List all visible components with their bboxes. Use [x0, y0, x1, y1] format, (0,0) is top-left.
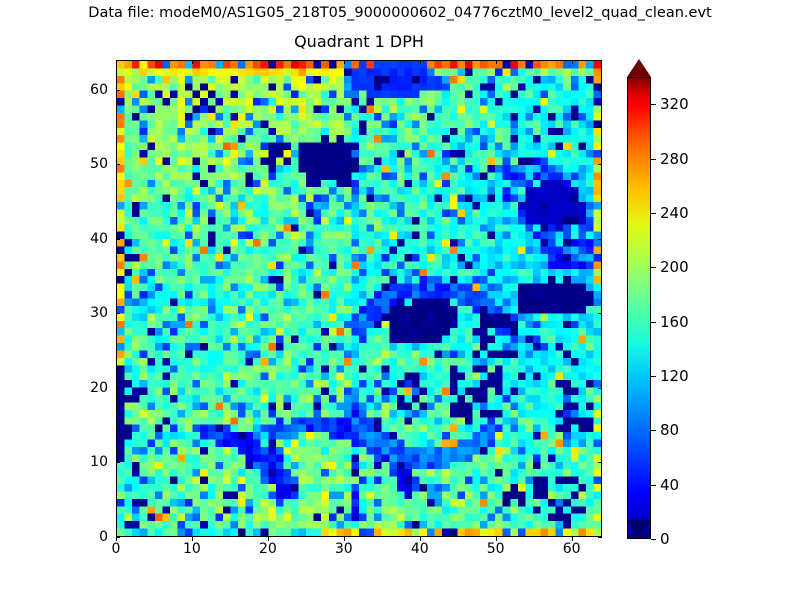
- colorbar-tick-label: 80: [660, 421, 679, 439]
- colorbar-tick-mark: [651, 104, 656, 105]
- colorbar-tick-label: 240: [660, 204, 689, 222]
- x-tick-label: 60: [563, 541, 581, 557]
- colorbar-tick-mark: [651, 322, 656, 323]
- x-tick-mark-top: [268, 60, 269, 64]
- y-tick-mark-right: [598, 164, 602, 165]
- x-tick-mark-top: [496, 60, 497, 64]
- y-tick-label: 40: [68, 231, 108, 247]
- colorbar[interactable]: 32028024020016012080400: [627, 60, 651, 537]
- y-tick-mark: [116, 537, 120, 538]
- data-file-title: Data file: modeM0/AS1G05_218T05_90000006…: [0, 5, 800, 21]
- colorbar-tick-mark: [651, 213, 656, 214]
- x-tick-mark-top: [192, 60, 193, 64]
- colorbar-tick-label: 200: [660, 258, 689, 276]
- y-tick-mark-right: [598, 239, 602, 240]
- colorbar-over-arrow-icon: [627, 59, 651, 77]
- y-tick-label: 30: [68, 305, 108, 321]
- figure-canvas: Data file: modeM0/AS1G05_218T05_90000006…: [0, 0, 800, 600]
- colorbar-tick-label: 160: [660, 313, 689, 331]
- x-tick-label: 30: [335, 541, 353, 557]
- x-tick-label: 10: [183, 541, 201, 557]
- colorbar-tick-mark: [651, 376, 656, 377]
- y-tick-label: 60: [68, 82, 108, 98]
- colorbar-tick-mark: [651, 267, 656, 268]
- colorbar-under-arrow-icon: [627, 520, 651, 538]
- colorbar-gradient: [627, 77, 651, 539]
- x-tick-label: 0: [112, 541, 121, 557]
- y-tick-mark-right: [598, 537, 602, 538]
- x-tick-mark-top: [116, 60, 117, 64]
- y-tick-mark-right: [598, 388, 602, 389]
- colorbar-tick-mark: [651, 485, 656, 486]
- x-tick-mark-top: [344, 60, 345, 64]
- y-tick-mark-right: [598, 313, 602, 314]
- y-tick-label: 50: [68, 156, 108, 172]
- colorbar-tick-mark: [651, 159, 656, 160]
- y-tick-mark: [116, 388, 120, 389]
- x-tick-label: 40: [411, 541, 429, 557]
- y-tick-label: 20: [68, 380, 108, 396]
- y-tick-mark: [116, 164, 120, 165]
- colorbar-tick-mark: [651, 430, 656, 431]
- heatmap-plot-area[interactable]: [116, 60, 602, 537]
- y-tick-mark: [116, 462, 120, 463]
- x-tick-label: 20: [259, 541, 277, 557]
- y-tick-mark: [116, 313, 120, 314]
- y-tick-mark: [116, 239, 120, 240]
- y-tick-mark: [116, 90, 120, 91]
- colorbar-tick-mark: [651, 539, 656, 540]
- colorbar-tick-label: 0: [660, 530, 670, 548]
- x-tick-label: 50: [487, 541, 505, 557]
- heatmap-image: [117, 61, 601, 536]
- colorbar-tick-label: 120: [660, 367, 689, 385]
- x-tick-mark-top: [572, 60, 573, 64]
- colorbar-tick-label: 320: [660, 95, 689, 113]
- y-tick-mark-right: [598, 462, 602, 463]
- plot-title: Quadrant 1 DPH: [116, 32, 602, 51]
- y-tick-mark-right: [598, 90, 602, 91]
- colorbar-tick-label: 40: [660, 476, 679, 494]
- y-tick-label: 0: [68, 529, 108, 545]
- x-tick-mark-top: [420, 60, 421, 64]
- colorbar-tick-label: 280: [660, 150, 689, 168]
- y-tick-label: 10: [68, 454, 108, 470]
